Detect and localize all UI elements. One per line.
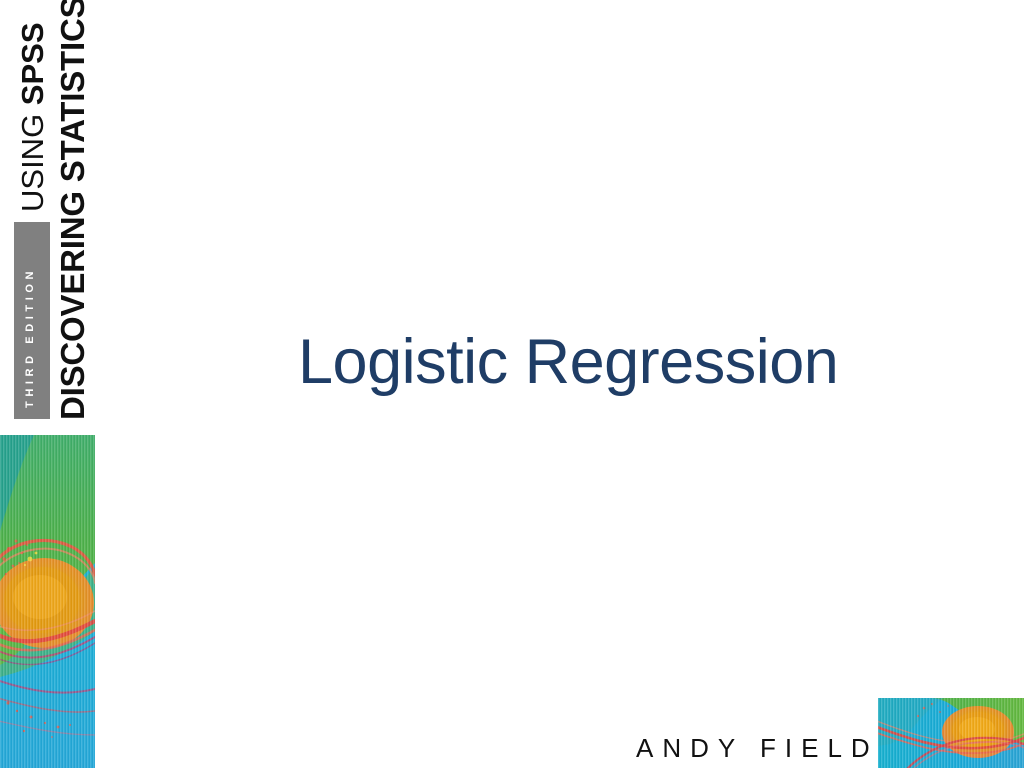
book-subtitle-using: USING [15,105,50,212]
edition-badge-label: THIRD EDITION [24,267,36,408]
book-series-title: DISCOVERING STATISTICS [56,0,89,420]
abstract-artwork-icon [0,435,95,768]
artwork-left-strip [0,435,95,768]
author-name: ANDY FIELD [636,733,879,764]
book-subtitle-spss: SPSS [15,22,50,105]
artwork-bottom-right [878,698,1024,768]
abstract-artwork-icon [878,698,1024,768]
slide-title: Logistic Regression [298,329,958,395]
slide-canvas: DISCOVERING STATISTICS USING SPSS THIRD … [0,0,1024,768]
book-cover-banner: DISCOVERING STATISTICS USING SPSS THIRD … [0,0,95,435]
edition-badge: THIRD EDITION [14,222,50,419]
book-subtitle: USING SPSS [17,22,48,212]
